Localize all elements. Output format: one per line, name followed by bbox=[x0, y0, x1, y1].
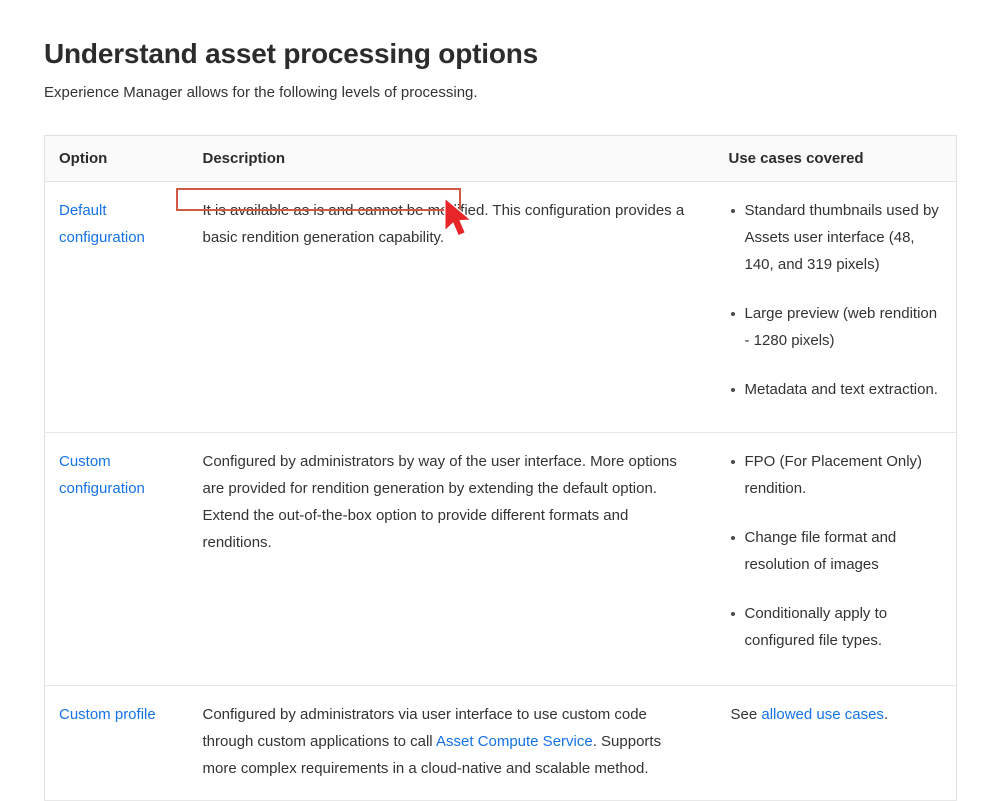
table-body: Default configuration It is available as… bbox=[45, 182, 957, 801]
use-case-list: FPO (For Placement Only) rendition. Chan… bbox=[717, 448, 943, 654]
description-highlighted-sentence: It is available as is and cannot be modi… bbox=[203, 202, 489, 219]
list-item: FPO (For Placement Only) rendition. bbox=[717, 448, 943, 502]
list-item: Change file format and resolution of ima… bbox=[717, 524, 943, 578]
use-case-suffix: . bbox=[884, 706, 888, 723]
asset-processing-options-table: Option Description Use cases covered Def… bbox=[44, 135, 957, 801]
link-default-configuration[interactable]: Default configuration bbox=[59, 202, 145, 246]
column-header-description: Description bbox=[183, 136, 709, 182]
link-custom-configuration[interactable]: Custom configuration bbox=[59, 453, 145, 497]
use-cases-cell-default-configuration: Standard thumbnails used by Assets user … bbox=[709, 182, 957, 433]
description-cell-custom-profile: Configured by administrators via user in… bbox=[183, 686, 709, 801]
table-row: Custom configuration Configured by admin… bbox=[45, 433, 957, 686]
asset-processing-table-wrapper: Option Description Use cases covered Def… bbox=[44, 135, 956, 801]
option-cell-default-configuration: Default configuration bbox=[45, 182, 183, 433]
list-item: Large preview (web rendition - 1280 pixe… bbox=[717, 300, 943, 354]
link-allowed-use-cases[interactable]: allowed use cases bbox=[761, 706, 884, 723]
option-cell-custom-configuration: Custom configuration bbox=[45, 433, 183, 686]
use-case-list: Standard thumbnails used by Assets user … bbox=[717, 197, 943, 403]
option-cell-custom-profile: Custom profile bbox=[45, 686, 183, 801]
use-cases-cell-custom-profile: See allowed use cases. bbox=[709, 686, 957, 801]
page-title: Understand asset processing options bbox=[44, 35, 538, 73]
page-intro-text: Experience Manager allows for the follow… bbox=[44, 82, 478, 104]
list-item: Standard thumbnails used by Assets user … bbox=[717, 197, 943, 278]
list-item: Conditionally apply to configured file t… bbox=[717, 600, 943, 654]
link-asset-compute-service[interactable]: Asset Compute Service bbox=[436, 733, 593, 750]
description-cell-default-configuration: It is available as is and cannot be modi… bbox=[183, 182, 709, 433]
column-header-option: Option bbox=[45, 136, 183, 182]
documentation-page: Understand asset processing options Expe… bbox=[0, 0, 1000, 782]
table-header-row: Option Description Use cases covered bbox=[45, 136, 957, 182]
use-case-prefix: See bbox=[731, 706, 762, 723]
list-item: Metadata and text extraction. bbox=[717, 376, 943, 403]
table-header: Option Description Use cases covered bbox=[45, 136, 957, 182]
use-cases-cell-custom-configuration: FPO (For Placement Only) rendition. Chan… bbox=[709, 433, 957, 686]
link-custom-profile[interactable]: Custom profile bbox=[59, 706, 156, 723]
table-row: Default configuration It is available as… bbox=[45, 182, 957, 433]
table-row: Custom profile Configured by administrat… bbox=[45, 686, 957, 801]
column-header-use-cases: Use cases covered bbox=[709, 136, 957, 182]
description-cell-custom-configuration: Configured by administrators by way of t… bbox=[183, 433, 709, 686]
use-case-text: See allowed use cases. bbox=[717, 701, 943, 728]
